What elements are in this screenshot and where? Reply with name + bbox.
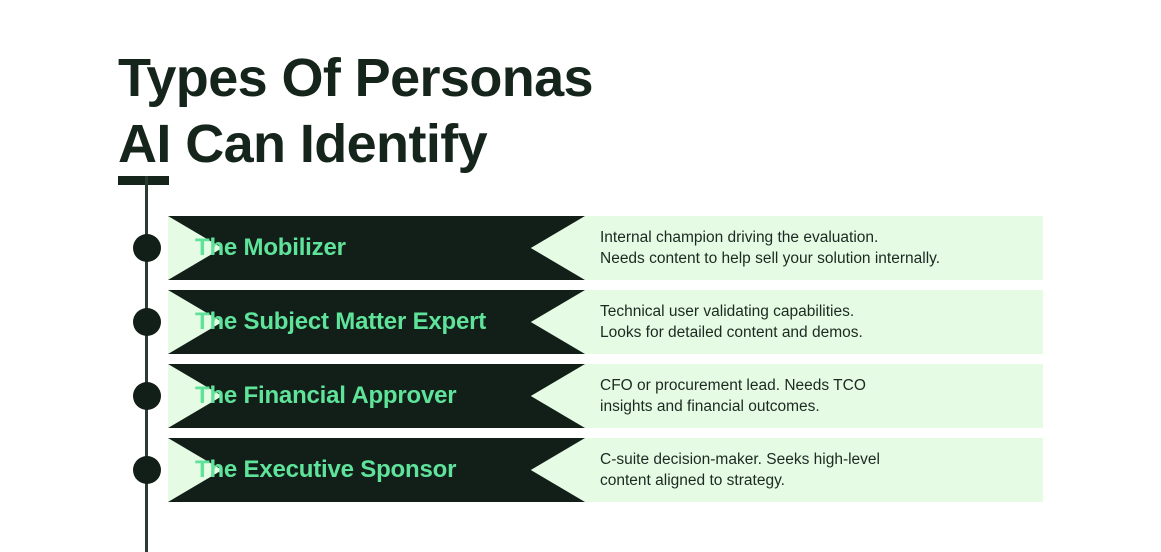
persona-description-line-1: C-suite decision-maker. Seeks high-level bbox=[600, 449, 880, 470]
persona-description-line-2: insights and financial outcomes. bbox=[600, 396, 866, 417]
persona-description-line-2: Looks for detailed content and demos. bbox=[600, 322, 863, 343]
persona-description-line-1: Internal champion driving the evaluation… bbox=[600, 227, 940, 248]
list-item[interactable]: The Subject Matter Expert Technical user… bbox=[0, 290, 1161, 354]
infographic-canvas: Types Of Personas AI Can Identify The Mo… bbox=[0, 0, 1161, 552]
title-line-2: AI Can Identify bbox=[118, 111, 878, 177]
title-line-2-rest: Can Identify bbox=[171, 114, 487, 174]
timeline-dot-icon bbox=[133, 456, 161, 484]
persona-description-line-2: content aligned to strategy. bbox=[600, 470, 880, 491]
timeline-dot-icon bbox=[133, 382, 161, 410]
persona-description: Technical user validating capabilities. … bbox=[600, 290, 863, 354]
persona-description-line-1: Technical user validating capabilities. bbox=[600, 301, 863, 322]
timeline-dot-icon bbox=[133, 234, 161, 262]
persona-description-line-2: Needs content to help sell your solution… bbox=[600, 248, 940, 269]
timeline-dot-icon bbox=[133, 308, 161, 336]
persona-list: The Mobilizer Internal champion driving … bbox=[0, 216, 1161, 512]
page-title: Types Of Personas AI Can Identify bbox=[118, 45, 878, 177]
persona-title: The Executive Sponsor bbox=[195, 438, 456, 502]
list-item[interactable]: The Financial Approver CFO or procuremen… bbox=[0, 364, 1161, 428]
list-item[interactable]: The Executive Sponsor C-suite decision-m… bbox=[0, 438, 1161, 502]
title-line-1: Types Of Personas bbox=[118, 45, 878, 111]
title-underlined-ai: AI bbox=[118, 111, 171, 177]
persona-description: CFO or procurement lead. Needs TCO insig… bbox=[600, 364, 866, 428]
persona-description: Internal champion driving the evaluation… bbox=[600, 216, 940, 280]
persona-title: The Financial Approver bbox=[195, 364, 456, 428]
list-item[interactable]: The Mobilizer Internal champion driving … bbox=[0, 216, 1161, 280]
persona-description-line-1: CFO or procurement lead. Needs TCO bbox=[600, 375, 866, 396]
persona-description: C-suite decision-maker. Seeks high-level… bbox=[600, 438, 880, 502]
persona-title: The Mobilizer bbox=[195, 216, 346, 280]
persona-title: The Subject Matter Expert bbox=[195, 290, 486, 354]
